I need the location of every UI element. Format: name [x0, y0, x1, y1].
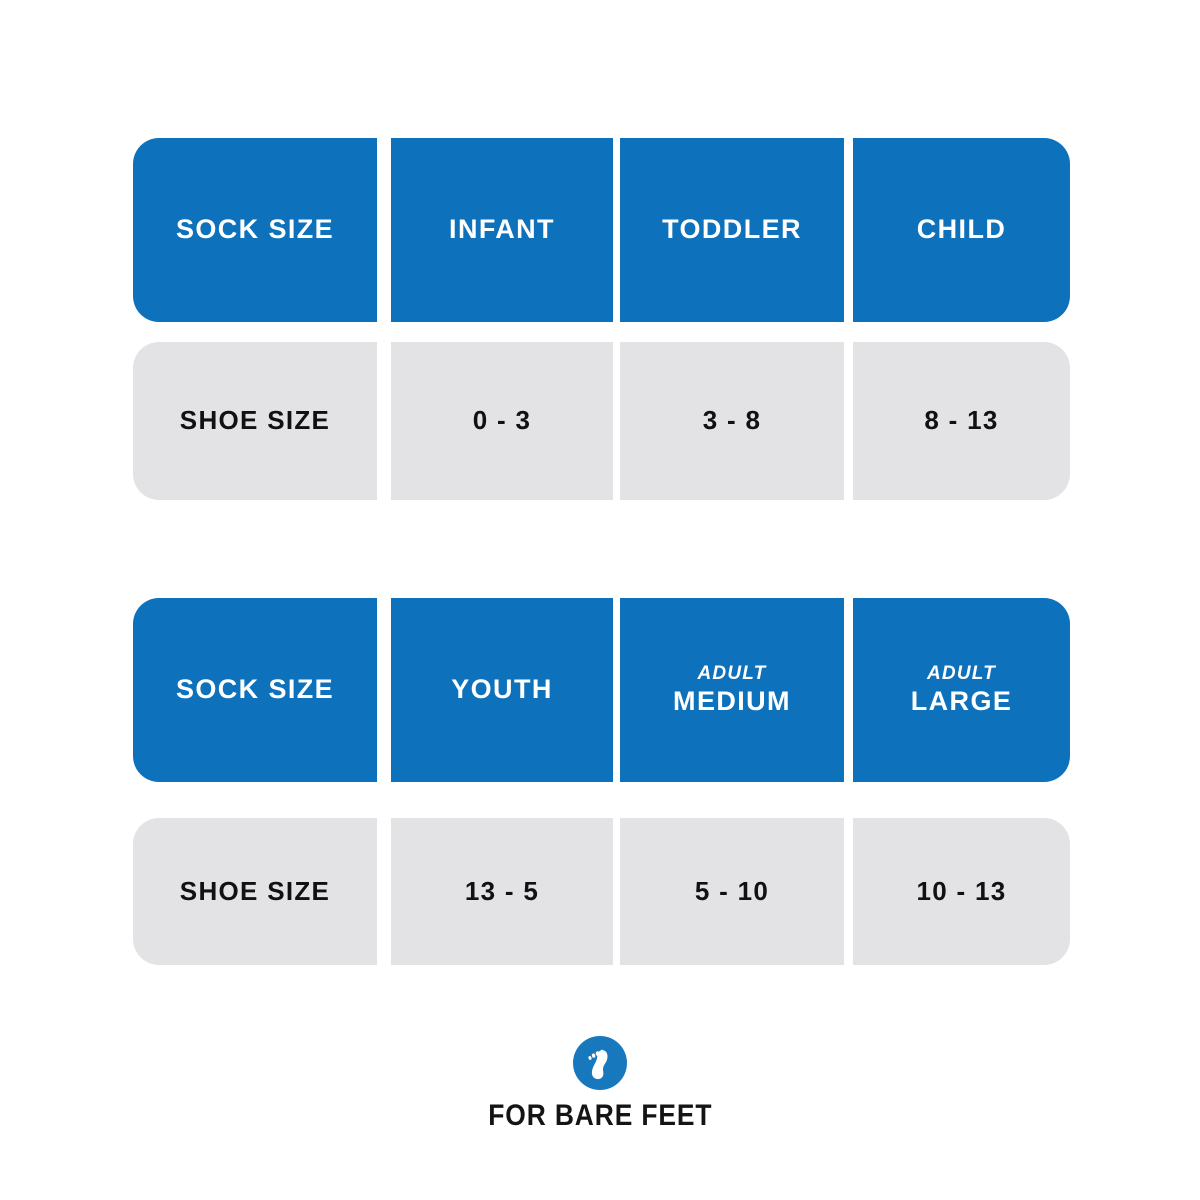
table-data-row: SHOE SIZE 13 - 5 5 - 10 10 - 13 [133, 818, 1070, 965]
data-value: 8 - 13 [924, 406, 998, 436]
header-cell-infant: INFANT [391, 138, 613, 322]
header-label: SOCK SIZE [176, 674, 334, 705]
header-label: INFANT [449, 214, 555, 245]
table-data-row: SHOE SIZE 0 - 3 3 - 8 8 - 13 [133, 342, 1070, 500]
data-label: SHOE SIZE [180, 406, 330, 436]
size-table-youth-adult: SOCK SIZE YOUTH ADULT MEDIUM ADULT LARGE… [133, 598, 1070, 965]
data-cell-shoe-size: SHOE SIZE [133, 342, 377, 500]
data-value: 3 - 8 [703, 406, 762, 436]
header-cell-sock-size: SOCK SIZE [133, 598, 377, 782]
header-label: LARGE [911, 686, 1013, 717]
brand-logo: FOR BARE FEET [0, 1035, 1200, 1133]
header-eyebrow: ADULT [927, 663, 996, 685]
data-label: SHOE SIZE [180, 877, 330, 907]
data-cell-adult-large: 10 - 13 [853, 818, 1070, 965]
row-gap [133, 782, 1070, 818]
data-value: 5 - 10 [695, 877, 769, 907]
header-cell-adult-large: ADULT LARGE [853, 598, 1070, 782]
footprint-icon [572, 1035, 628, 1091]
size-table-infant-child: SOCK SIZE INFANT TODDLER CHILD SHOE SIZE… [133, 138, 1070, 500]
header-label: YOUTH [451, 674, 553, 705]
header-cell-child: CHILD [853, 138, 1070, 322]
header-label: MEDIUM [673, 686, 791, 717]
header-cell-adult-medium: ADULT MEDIUM [620, 598, 844, 782]
header-cell-toddler: TODDLER [620, 138, 844, 322]
data-value: 0 - 3 [473, 406, 532, 436]
header-cell-sock-size: SOCK SIZE [133, 138, 377, 322]
data-cell-youth: 13 - 5 [391, 818, 613, 965]
data-value: 10 - 13 [916, 877, 1006, 907]
header-cell-youth: YOUTH [391, 598, 613, 782]
data-value: 13 - 5 [465, 877, 539, 907]
data-cell-toddler: 3 - 8 [620, 342, 844, 500]
data-cell-child: 8 - 13 [853, 342, 1070, 500]
size-chart-page: SOCK SIZE INFANT TODDLER CHILD SHOE SIZE… [0, 0, 1200, 1200]
header-label: SOCK SIZE [176, 214, 334, 245]
table-header-row: SOCK SIZE INFANT TODDLER CHILD [133, 138, 1070, 322]
brand-wordmark: FOR BARE FEET [488, 1099, 712, 1133]
data-cell-infant: 0 - 3 [391, 342, 613, 500]
header-eyebrow: ADULT [698, 663, 767, 685]
header-label: TODDLER [662, 214, 802, 245]
table-header-row: SOCK SIZE YOUTH ADULT MEDIUM ADULT LARGE [133, 598, 1070, 782]
data-cell-shoe-size: SHOE SIZE [133, 818, 377, 965]
header-label: CHILD [917, 214, 1007, 245]
data-cell-adult-medium: 5 - 10 [620, 818, 844, 965]
row-gap [133, 322, 1070, 342]
